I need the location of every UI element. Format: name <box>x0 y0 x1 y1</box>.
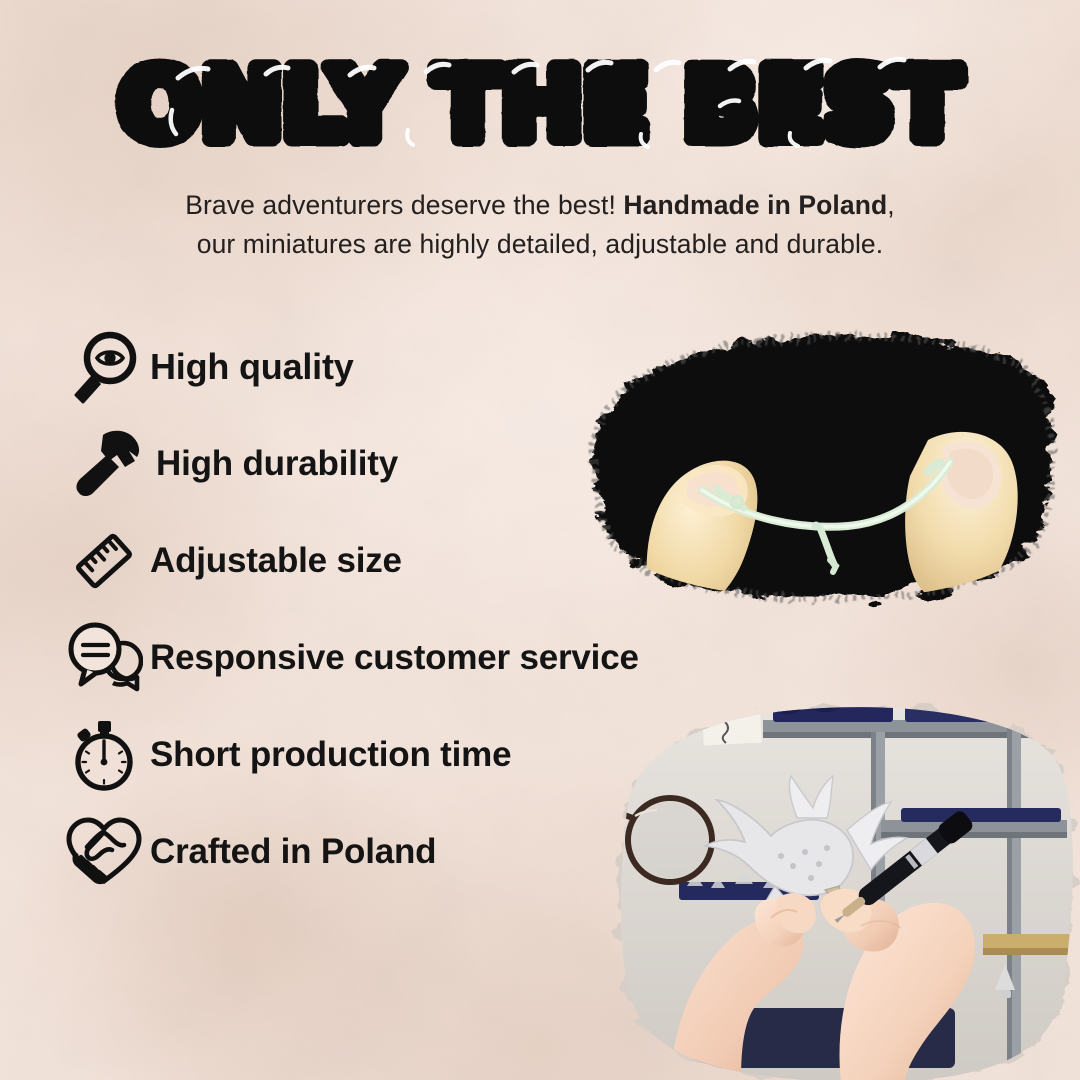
feature-label: Short production time <box>150 735 511 775</box>
subtitle: Brave adventurers deserve the best! Hand… <box>90 186 990 264</box>
feature-label: Crafted in Poland <box>150 832 436 872</box>
stopwatch-icon <box>58 718 150 792</box>
speech-bubbles-icon <box>58 621 150 695</box>
feature-list: High quality High durability <box>58 318 778 900</box>
ruler-icon <box>58 524 150 598</box>
poster-canvas: ONLY THE BEST Brav <box>0 0 1080 1080</box>
subtitle-bold: Handmade in Poland <box>623 190 887 220</box>
hammer-icon <box>58 427 156 501</box>
subtitle-comma: , <box>887 190 894 220</box>
feature-item-high-quality[interactable]: High quality <box>58 318 778 415</box>
feature-label: High quality <box>150 346 354 388</box>
feature-label: Adjustable size <box>150 541 402 581</box>
feature-item-adjustable-size[interactable]: Adjustable size <box>58 512 778 609</box>
subtitle-line1-plain: Brave adventurers deserve the best! <box>185 190 616 220</box>
feature-item-crafted-in-poland[interactable]: Crafted in Poland <box>58 803 778 900</box>
subtitle-line2: our miniatures are highly detailed, adju… <box>197 229 884 259</box>
feature-item-responsive-customer-service[interactable]: Responsive customer service <box>58 609 778 706</box>
headline-block: ONLY THE BEST <box>0 34 1080 164</box>
magnifier-eye-icon <box>58 330 150 404</box>
feature-label: Responsive customer service <box>150 638 639 678</box>
feature-item-short-production-time[interactable]: Short production time <box>58 706 778 803</box>
feature-label: High durability <box>156 444 398 484</box>
feature-item-high-durability[interactable]: High durability <box>58 415 778 512</box>
heart-handshake-icon <box>58 815 150 889</box>
page-title-text: ONLY THE BEST <box>119 49 961 161</box>
part-knot <box>812 522 821 531</box>
right-thumb <box>905 432 1018 600</box>
page-title: ONLY THE BEST <box>90 34 990 164</box>
